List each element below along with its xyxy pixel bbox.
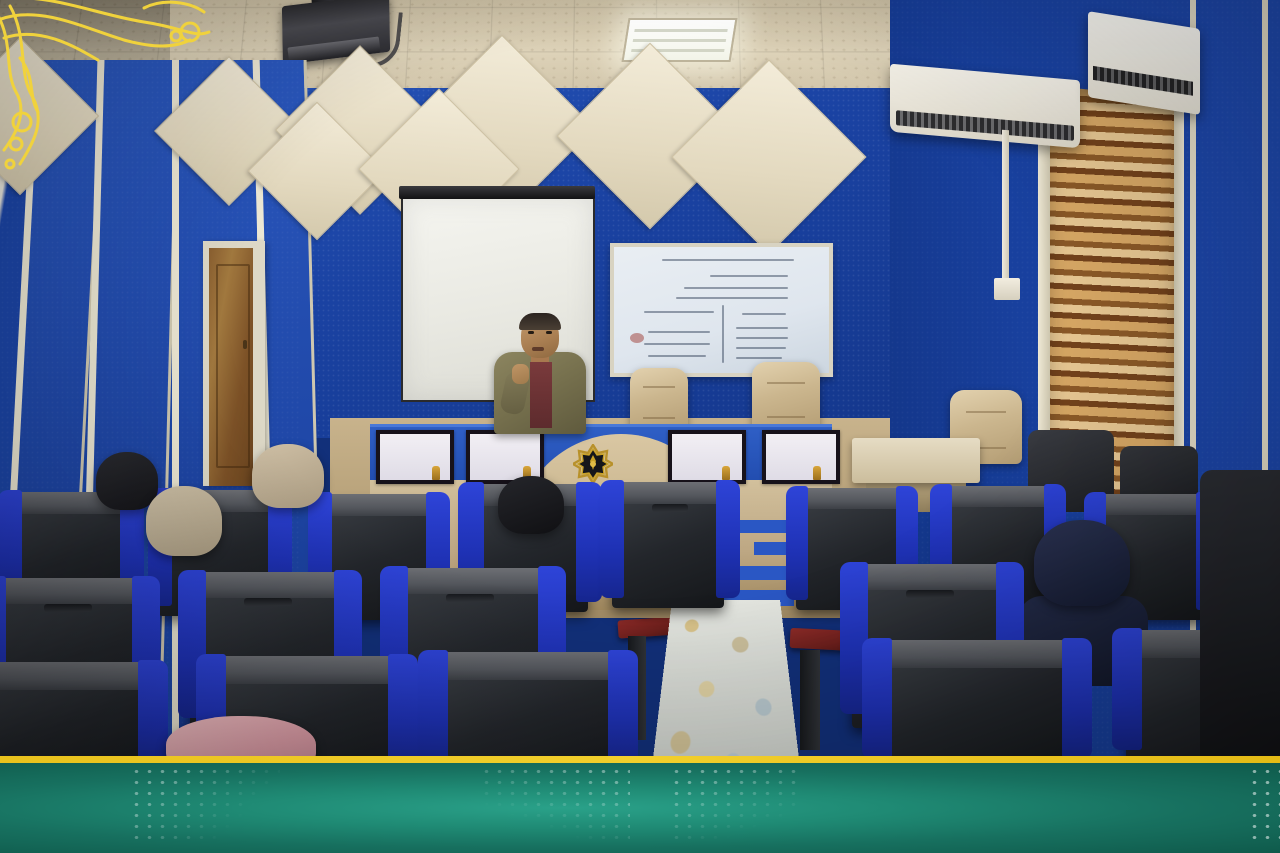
- footer-banner: جامعة تكريت - كلية التربية للبنات Tikrit…: [0, 756, 1280, 853]
- executive-chair: [630, 368, 688, 432]
- dot-pattern: [480, 766, 630, 844]
- speaker-eye: [528, 331, 534, 334]
- student-head: [96, 452, 158, 510]
- banner-top-stripe: [0, 756, 1280, 763]
- podium-plaque: [376, 430, 454, 484]
- speaker-hand: [512, 364, 529, 384]
- wall-conduit: [1002, 130, 1009, 280]
- executive-chair: [752, 362, 820, 432]
- speaker-hair: [519, 313, 561, 330]
- air-conditioner-secondary-icon: [1088, 11, 1200, 115]
- foreground-seat: [1200, 470, 1280, 756]
- dot-pattern: [130, 766, 280, 844]
- projection-screen-bar: [399, 186, 595, 199]
- podium-plaque: [762, 430, 840, 484]
- door-knob-icon[interactable]: [243, 340, 247, 349]
- speaker-eye: [546, 331, 552, 334]
- dot-pattern: [670, 766, 800, 844]
- student-head: [252, 444, 324, 508]
- speaker-shirt: [530, 362, 552, 428]
- photograph: كلية: [0, 0, 1280, 756]
- podium-knob-icon: [813, 466, 821, 480]
- wall-socket-icon: [994, 278, 1020, 300]
- whiteboard: [610, 243, 833, 377]
- dot-pattern: [1248, 766, 1280, 844]
- student-head: [498, 476, 564, 534]
- star-emblem-icon: [573, 444, 613, 484]
- podium-plaque: [668, 430, 746, 484]
- student-head: [146, 486, 222, 556]
- tablet-post: [800, 650, 820, 750]
- student-head: [1034, 520, 1130, 606]
- podium-knob-icon: [722, 466, 730, 480]
- speaker-mouth: [532, 347, 544, 351]
- door[interactable]: [203, 241, 265, 486]
- side-table: [852, 438, 980, 483]
- aisle-floor: [649, 600, 803, 756]
- screenshot-root: كلية: [0, 0, 1280, 853]
- podium-knob-icon: [432, 466, 440, 480]
